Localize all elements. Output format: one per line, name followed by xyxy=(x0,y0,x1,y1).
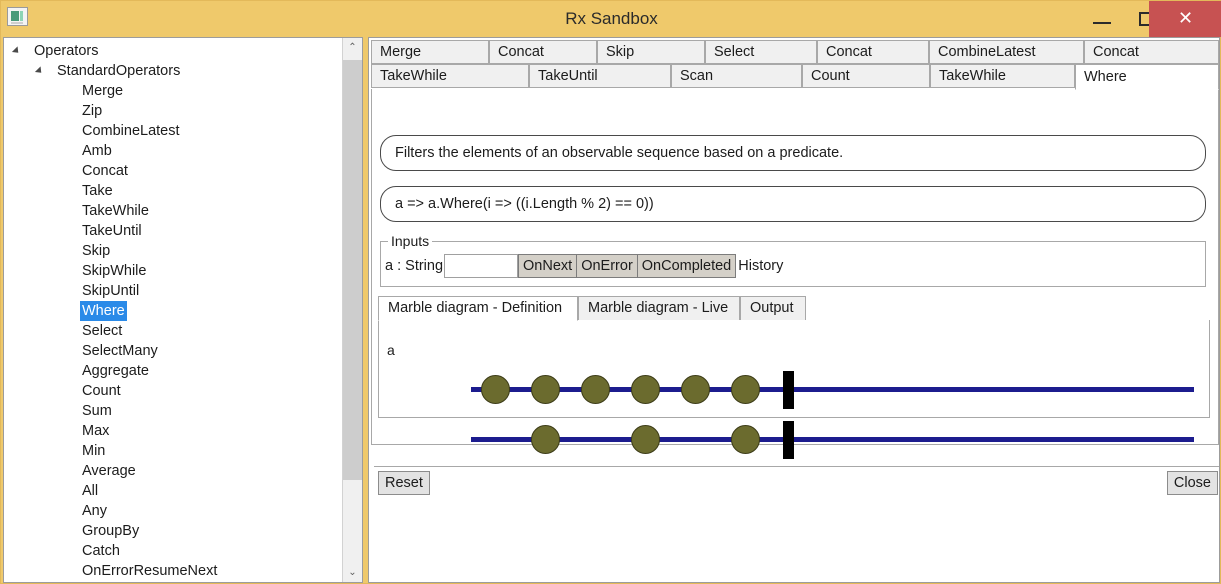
operator-tab-body: Filters the elements of an observable se… xyxy=(371,89,1219,445)
operator-content-panel: MergeConcatSkipSelectConcatCombineLatest… xyxy=(368,37,1220,583)
tree-item[interactable]: GroupBy xyxy=(4,521,342,541)
marble-diagram-canvas[interactable]: a xyxy=(378,320,1210,418)
tree-item-label: Where xyxy=(80,301,127,321)
close-panel-button[interactable]: Close xyxy=(1167,471,1218,495)
tree-item-label: Any xyxy=(80,501,109,521)
tree-item-label: SkipWhile xyxy=(80,261,148,281)
tree-item-label: GroupBy xyxy=(80,521,141,541)
marble-item[interactable] xyxy=(581,375,610,404)
marble-item[interactable] xyxy=(531,375,560,404)
tree-item[interactable]: Where xyxy=(4,301,342,321)
marble-timeline xyxy=(471,437,1194,442)
tree-item[interactable]: Operators xyxy=(4,41,342,61)
tree-item-label: Zip xyxy=(80,101,104,121)
operator-description: Filters the elements of an observable se… xyxy=(380,135,1206,171)
operator-tab-scan[interactable]: Scan xyxy=(671,64,802,88)
operator-expression-input[interactable]: a => a.Where(i => ((i.Length % 2) == 0)) xyxy=(380,186,1206,222)
tree-item-label: SelectMany xyxy=(80,341,160,361)
marble-item[interactable] xyxy=(731,425,760,454)
tree-item[interactable]: Merge xyxy=(4,81,342,101)
tree-item-label: Select xyxy=(80,321,124,341)
tree-item[interactable]: Skip xyxy=(4,241,342,261)
inputs-group: Inputs a : String OnNext OnError OnCompl… xyxy=(380,241,1206,287)
scroll-up-icon[interactable]: ⌃ xyxy=(343,38,362,57)
marble-timeline xyxy=(471,387,1194,392)
operator-tab-count[interactable]: Count xyxy=(802,64,930,88)
tree-item[interactable]: StandardOperators xyxy=(4,61,342,81)
history-label: History xyxy=(736,254,783,278)
marble-completion-marker[interactable] xyxy=(783,371,794,409)
tree-item[interactable]: TakeUntil xyxy=(4,221,342,241)
operator-tab-strip[interactable]: MergeConcatSkipSelectConcatCombineLatest… xyxy=(369,38,1220,90)
tree-item[interactable]: All xyxy=(4,481,342,501)
tree-item[interactable]: Take xyxy=(4,181,342,201)
tree-item[interactable]: Min xyxy=(4,441,342,461)
operators-tree[interactable]: OperatorsStandardOperatorsMergeZipCombin… xyxy=(4,41,342,581)
operator-tab-merge[interactable]: Merge xyxy=(371,40,489,64)
close-window-button[interactable]: ✕ xyxy=(1149,1,1221,37)
tree-item-label: Take xyxy=(80,181,115,201)
tree-item-label: TakeUntil xyxy=(80,221,144,241)
operator-tab-takewhile[interactable]: TakeWhile xyxy=(930,64,1075,88)
tree-item[interactable]: Zip xyxy=(4,101,342,121)
tree-item-label: Catch xyxy=(80,541,122,561)
tree-item-label: Skip xyxy=(80,241,112,261)
tree-item[interactable]: SkipWhile xyxy=(4,261,342,281)
tree-item-label: Amb xyxy=(80,141,114,161)
on-next-button[interactable]: OnNext xyxy=(518,254,577,278)
marble-item[interactable] xyxy=(531,425,560,454)
operator-tab-concat[interactable]: Concat xyxy=(817,40,929,64)
tree-item-label: Average xyxy=(80,461,138,481)
minimize-button[interactable] xyxy=(1079,1,1125,37)
tree-expander-icon[interactable] xyxy=(35,66,44,75)
marble-tab[interactable]: Marble diagram - Live xyxy=(578,296,740,321)
operator-tab-concat[interactable]: Concat xyxy=(1084,40,1219,64)
tree-item[interactable]: CombineLatest xyxy=(4,121,342,141)
operators-tree-panel: OperatorsStandardOperatorsMergeZipCombin… xyxy=(3,37,363,583)
tree-item-label: CombineLatest xyxy=(80,121,182,141)
tree-item[interactable]: Max xyxy=(4,421,342,441)
tree-item-label: SkipUntil xyxy=(80,281,141,301)
tree-item-label: StandardOperators xyxy=(55,61,182,81)
tree-item-label: TakeWhile xyxy=(80,201,151,221)
operator-tab-takeuntil[interactable]: TakeUntil xyxy=(529,64,671,88)
marble-stream-label: a xyxy=(387,342,395,358)
tree-item[interactable]: Aggregate xyxy=(4,361,342,381)
minimize-icon xyxy=(1093,22,1111,24)
scroll-down-icon[interactable]: ⌄ xyxy=(343,563,362,582)
tree-item[interactable]: Amb xyxy=(4,141,342,161)
tree-item-label: Merge xyxy=(80,81,125,101)
operator-tab-concat[interactable]: Concat xyxy=(489,40,597,64)
marble-item[interactable] xyxy=(631,375,660,404)
tree-item[interactable]: TakeWhile xyxy=(4,201,342,221)
tree-item[interactable]: Average xyxy=(4,461,342,481)
inputs-legend: Inputs xyxy=(388,233,432,249)
title-bar: Rx Sandbox ✕ xyxy=(1,1,1221,37)
tree-item-label: Operators xyxy=(32,41,100,61)
tree-item[interactable]: Any xyxy=(4,501,342,521)
reset-button[interactable]: Reset xyxy=(378,471,430,495)
tree-item-label: OnErrorResumeNext xyxy=(80,561,219,581)
operator-tab-takewhile[interactable]: TakeWhile xyxy=(371,64,529,88)
tree-item[interactable]: SelectMany xyxy=(4,341,342,361)
panel-footer: Reset Close xyxy=(374,466,1220,498)
marble-item[interactable] xyxy=(681,375,710,404)
marble-item[interactable] xyxy=(631,425,660,454)
tree-item-label: Concat xyxy=(80,161,130,181)
on-completed-button[interactable]: OnCompleted xyxy=(638,254,736,278)
tree-item-label: All xyxy=(80,481,100,501)
window-title: Rx Sandbox xyxy=(1,1,1221,37)
marble-tab[interactable]: Output xyxy=(740,296,806,321)
operator-tab-where[interactable]: Where xyxy=(1075,64,1219,90)
marble-item[interactable] xyxy=(731,375,760,404)
application-window: Rx Sandbox ✕ OperatorsStandardOperatorsM… xyxy=(0,0,1221,584)
marble-completion-marker[interactable] xyxy=(783,421,794,459)
tree-item-label: Count xyxy=(80,381,123,401)
tree-item[interactable]: Catch xyxy=(4,541,342,561)
input-param-label: a : String xyxy=(385,254,444,278)
input-param-field[interactable] xyxy=(444,254,518,278)
operator-tab-combinelatest[interactable]: CombineLatest xyxy=(929,40,1084,64)
marble-tab[interactable]: Marble diagram - Definition xyxy=(378,296,578,321)
tree-item[interactable]: SkipUntil xyxy=(4,281,342,301)
tree-item[interactable]: Count xyxy=(4,381,342,401)
tree-item[interactable]: Concat xyxy=(4,161,342,181)
close-icon: ✕ xyxy=(1149,1,1221,37)
marble-tab-strip[interactable]: Marble diagram - DefinitionMarble diagra… xyxy=(378,296,1210,321)
tree-item-label: Min xyxy=(80,441,107,461)
tree-item-label: Aggregate xyxy=(80,361,151,381)
tree-expander-icon[interactable] xyxy=(12,46,21,55)
marble-item[interactable] xyxy=(481,375,510,404)
scrollbar-thumb[interactable] xyxy=(343,60,362,480)
operator-tab-select[interactable]: Select xyxy=(705,40,817,64)
tree-item[interactable]: Sum xyxy=(4,401,342,421)
tree-item[interactable]: OnErrorResumeNext xyxy=(4,561,342,581)
on-error-button[interactable]: OnError xyxy=(577,254,638,278)
tree-scrollbar[interactable]: ⌃ ⌄ xyxy=(342,38,362,582)
tree-item[interactable]: Select xyxy=(4,321,342,341)
tree-item-label: Max xyxy=(80,421,111,441)
tree-item-label: Sum xyxy=(80,401,114,421)
operator-tab-skip[interactable]: Skip xyxy=(597,40,705,64)
